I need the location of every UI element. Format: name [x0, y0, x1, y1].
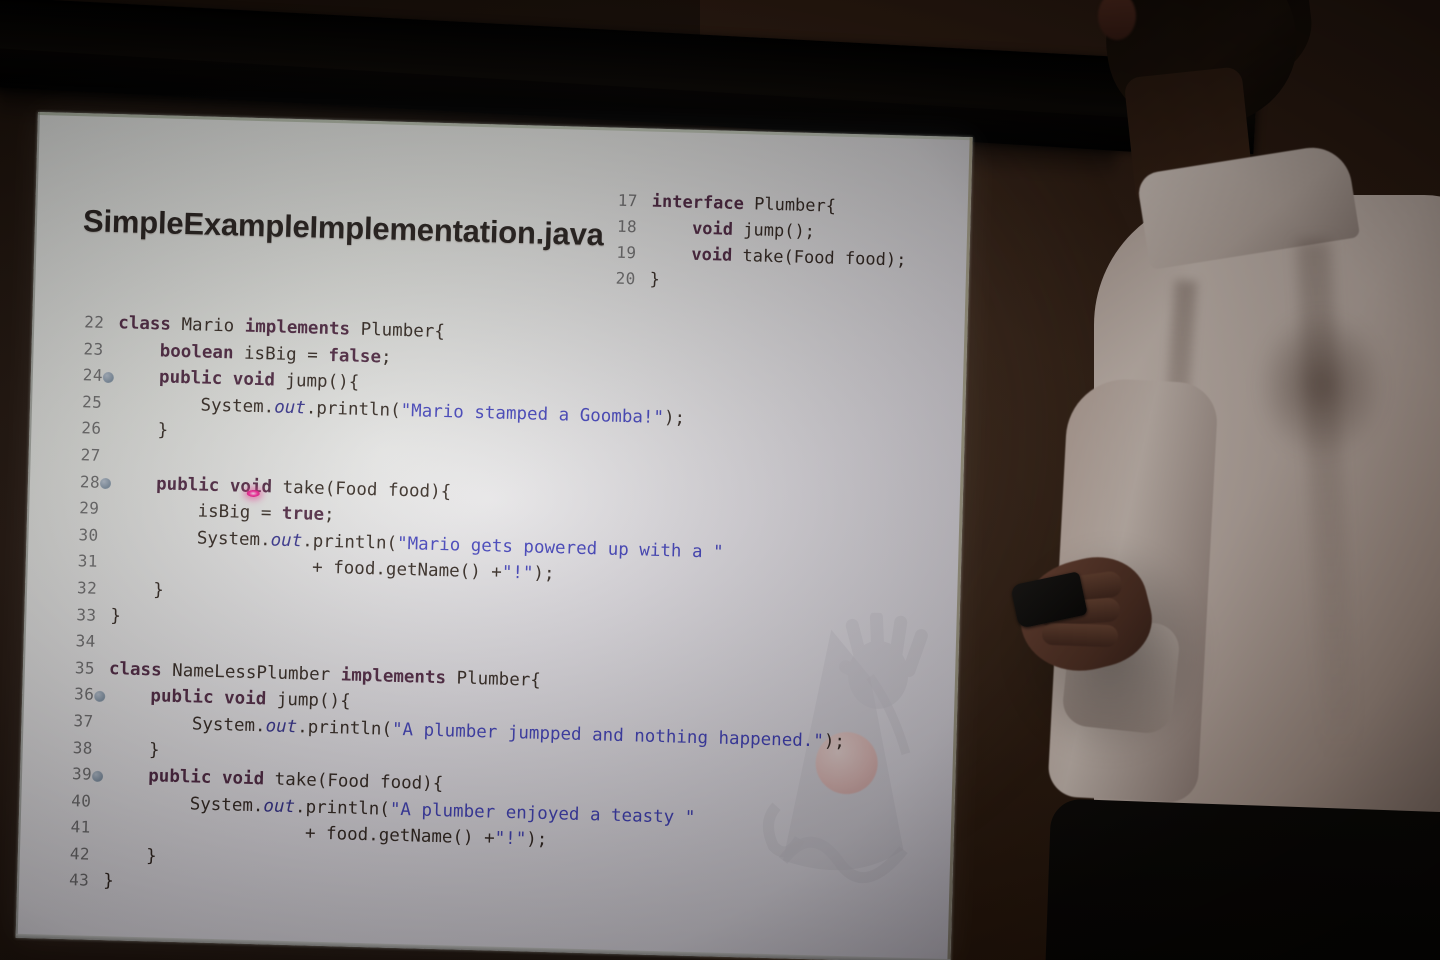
slide-surface: SimpleExampleImplementation.java 17inter…	[16, 112, 973, 960]
override-marker-icon	[92, 763, 107, 790]
code-text: }	[106, 736, 159, 764]
slide-title: SimpleExampleImplementation.java	[83, 205, 604, 250]
line-number: 42	[48, 840, 91, 868]
line-number: 41	[48, 814, 91, 842]
line-number: 19	[602, 239, 637, 266]
photo-scene: SimpleExampleImplementation.java 17inter…	[0, 0, 1440, 960]
line-number: 37	[51, 708, 94, 736]
line-number: 26	[59, 415, 102, 443]
code-block-interface: 17interface Plumber{18 void jump();19 vo…	[601, 187, 908, 299]
code-text: }	[110, 603, 121, 630]
line-number: 23	[61, 335, 104, 363]
line-number: 17	[603, 187, 638, 214]
line-number: 27	[58, 442, 101, 470]
line-number: 22	[62, 309, 105, 337]
shirt-shadow	[1256, 310, 1386, 460]
laser-pointer-dot	[247, 490, 260, 497]
projection-screen: SimpleExampleImplementation.java 17inter…	[15, 112, 977, 960]
presenter-trousers	[1045, 798, 1440, 960]
presenter-person	[1010, 0, 1440, 960]
line-number: 36	[52, 681, 95, 709]
code-text: }	[103, 869, 114, 896]
line-number: 34	[53, 628, 96, 656]
line-number: 32	[55, 575, 98, 603]
code-text: }	[115, 417, 168, 445]
line-number: 20	[601, 265, 636, 292]
line-number: 24	[61, 362, 104, 390]
line-number: 39	[50, 761, 93, 789]
line-number: 30	[56, 521, 99, 549]
code-text: }	[111, 576, 164, 604]
finger	[1042, 623, 1119, 648]
line-number: 38	[50, 734, 93, 762]
line-number: 33	[54, 601, 97, 629]
line-number: 40	[49, 787, 92, 815]
code-text: }	[104, 842, 157, 870]
line-number: 43	[47, 867, 90, 895]
code-block-main: 22class Mario implements Plumber{23 bool…	[47, 309, 856, 915]
line-number: 35	[53, 654, 96, 682]
override-marker-icon	[94, 683, 109, 710]
override-marker-icon	[100, 470, 115, 497]
line-number: 28	[58, 468, 101, 496]
line-number: 31	[55, 548, 98, 576]
override-marker-icon	[102, 364, 117, 391]
line-number: 25	[60, 388, 103, 416]
code-text: }	[649, 267, 660, 293]
line-number: 29	[57, 495, 100, 523]
line-number: 18	[603, 213, 638, 240]
